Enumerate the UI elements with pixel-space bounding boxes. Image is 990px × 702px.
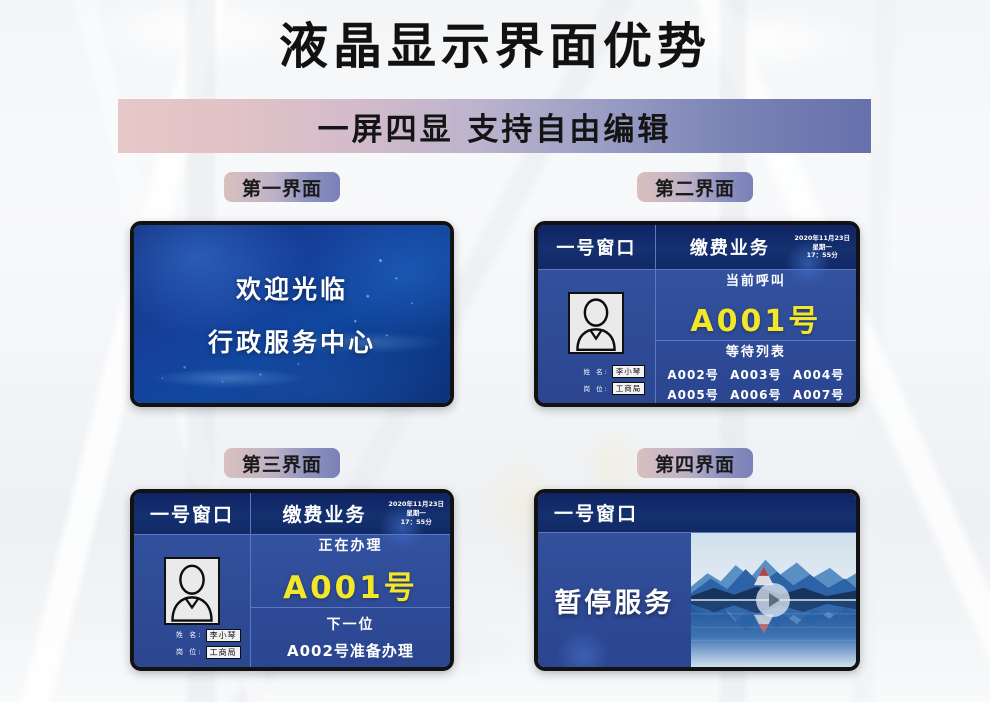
subtitle-text: 一屏四显 支持自由编辑 <box>318 104 672 149</box>
screen3-post-value: 工商局 <box>206 646 241 659</box>
screen3-clock-date: 2020年11月23日 <box>388 500 444 509</box>
screen4-status-text: 暂停服务 <box>554 581 674 620</box>
screen3-name-row: 姓 名: 李小琴 <box>143 629 240 642</box>
screen3-serving-number: A001号 <box>283 562 418 607</box>
section-label-4: 第四界面 <box>637 448 753 478</box>
screen3-next-caption: 下一位 <box>326 614 374 634</box>
screen3-name-label: 姓 名: <box>176 630 203 640</box>
screen3-name-value: 李小琴 <box>206 629 241 642</box>
page-title: 液晶显示界面优势 <box>0 18 990 76</box>
screen3-body: 姓 名: 李小琴 岗 位: 工商局 正在办理 A001号 下一位 A002号准备 <box>134 535 450 667</box>
staff-photo-frame <box>568 292 624 354</box>
screen3-header-bar: 一号窗口 缴费业务 2020年11月23日 星期一 17：55分 <box>134 493 450 535</box>
display-screen-2: 一号窗口 缴费业务 2020年11月23日 星期一 17：55分 <box>534 221 860 407</box>
screen2-post-value: 工商局 <box>612 382 646 395</box>
section-label-1: 第一界面 <box>224 172 340 202</box>
serving-screen: 一号窗口 缴费业务 2020年11月23日 星期一 17：55分 <box>134 493 450 667</box>
staff-photo-frame <box>164 557 220 625</box>
display-screen-1: 欢迎光临 行政服务中心 <box>130 221 454 407</box>
screen2-clock: 2020年11月23日 星期一 17：55分 <box>794 234 850 260</box>
screen4-window-name: 一号窗口 <box>554 499 638 526</box>
section-label-3: 第三界面 <box>224 448 340 478</box>
queue-screen: 一号窗口 缴费业务 2020年11月23日 星期一 17：55分 <box>538 225 856 403</box>
waiting-item: A004号 <box>793 366 844 383</box>
person-avatar-icon <box>166 557 218 623</box>
waiting-item: A002号 <box>667 366 718 383</box>
welcome-screen: 欢迎光临 行政服务中心 <box>134 225 450 403</box>
screen2-body: 姓 名: 李小琴 岗 位: 工商局 当前呼叫 A001号 等待列表 <box>538 270 856 404</box>
screen2-waiting-grid: A002号 A003号 A004号 A005号 A006号 A007号 <box>662 366 850 403</box>
screen3-window-name: 一号窗口 <box>134 493 251 534</box>
welcome-line-2: 行政服务中心 <box>208 323 376 359</box>
screen4-status-panel: 暂停服务 <box>538 533 691 667</box>
screen2-name-label: 姓 名: <box>584 366 609 376</box>
screen3-serving-caption: 正在办理 <box>318 535 382 555</box>
subtitle-banner: 一屏四显 支持自由编辑 <box>118 99 871 153</box>
screen2-waiting-pane: 等待列表 A002号 A003号 A004号 A005号 A006号 A007号 <box>656 340 856 404</box>
screen2-current-call-pane: 当前呼叫 A001号 <box>656 270 856 340</box>
play-triangle <box>769 593 780 607</box>
screen2-waiting-caption: 等待列表 <box>726 341 786 360</box>
welcome-line-1: 欢迎光临 <box>236 270 348 306</box>
screen2-info-panel: 当前呼叫 A001号 等待列表 A002号 A003号 A004号 A005号 … <box>656 270 856 404</box>
play-icon[interactable] <box>756 583 790 617</box>
person-avatar-icon <box>570 292 622 352</box>
screen3-staff-panel: 姓 名: 李小琴 岗 位: 工商局 <box>134 535 251 667</box>
screen3-post-label: 岗 位: <box>176 647 203 657</box>
paused-screen: 一号窗口 暂停服务 <box>538 493 856 667</box>
waiting-item: A003号 <box>730 366 781 383</box>
display-screen-4: 一号窗口 暂停服务 <box>534 489 860 671</box>
screen2-clock-time: 17：55分 <box>794 251 850 260</box>
screen3-post-row: 岗 位: 工商局 <box>143 646 240 659</box>
screen2-post-label: 岗 位: <box>584 383 609 393</box>
display-screen-3: 一号窗口 缴费业务 2020年11月23日 星期一 17：55分 <box>130 489 454 671</box>
screen4-header-bar: 一号窗口 <box>538 493 856 533</box>
screen3-clock: 2020年11月23日 星期一 17：55分 <box>388 500 444 526</box>
screen4-body: 暂停服务 <box>538 533 856 667</box>
section-label-2: 第二界面 <box>637 172 753 202</box>
waiting-item: A007号 <box>793 386 844 403</box>
screen3-next-text: A002号准备办理 <box>287 640 414 661</box>
waiting-item: A006号 <box>730 386 781 403</box>
screen2-staff-panel: 姓 名: 李小琴 岗 位: 工商局 <box>538 270 656 404</box>
screen3-next-pane: 下一位 A002号准备办理 <box>251 607 450 667</box>
screen3-id-rows: 姓 名: 李小琴 岗 位: 工商局 <box>143 625 240 667</box>
screen3-clock-time: 17：55分 <box>388 518 444 527</box>
screen3-clock-weekday: 星期一 <box>388 509 444 518</box>
screen4-video-panel[interactable] <box>691 533 856 667</box>
screen3-serving-pane: 正在办理 A001号 <box>251 535 450 607</box>
screen2-clock-date: 2020年11月23日 <box>794 234 850 243</box>
screen2-current-number: A001号 <box>690 296 821 340</box>
screen2-current-caption: 当前呼叫 <box>726 270 786 289</box>
screen2-clock-weekday: 星期一 <box>794 242 850 251</box>
screen2-name-row: 姓 名: 李小琴 <box>547 365 645 378</box>
screen3-info-panel: 正在办理 A001号 下一位 A002号准备办理 <box>251 535 450 667</box>
screen2-post-row: 岗 位: 工商局 <box>547 382 645 395</box>
screen2-name-value: 李小琴 <box>612 365 646 378</box>
screen2-window-name: 一号窗口 <box>538 225 656 269</box>
waiting-item: A005号 <box>667 386 718 403</box>
screen2-id-rows: 姓 名: 李小琴 岗 位: 工商局 <box>547 361 645 403</box>
screen2-header-bar: 一号窗口 缴费业务 2020年11月23日 星期一 17：55分 <box>538 225 856 270</box>
